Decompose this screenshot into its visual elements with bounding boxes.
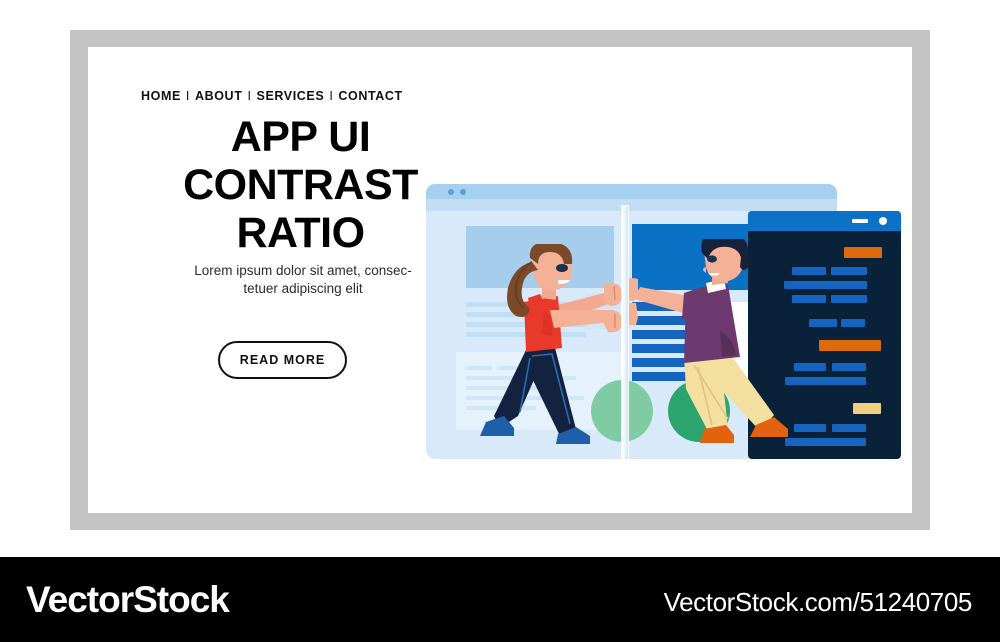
poster-frame: HOMEIABOUTISERVICESICONTACT APP UI CONTR…	[70, 30, 930, 530]
minimize-icon[interactable]	[852, 219, 868, 223]
code-highlight-orange	[819, 340, 881, 351]
woman-pushing-character	[458, 244, 633, 459]
code-line	[831, 267, 867, 275]
read-more-button[interactable]: READ MORE	[218, 341, 347, 379]
code-line	[831, 295, 867, 303]
window-dot-icon	[460, 189, 466, 195]
nav-separator: I	[181, 89, 195, 103]
nav-item-services[interactable]: SERVICES	[257, 89, 325, 103]
read-more-label: READ MORE	[240, 353, 325, 367]
subtext-line-2: tetuer adipiscing elit	[148, 280, 458, 298]
poster-inner: HOMEIABOUTISERVICESICONTACT APP UI CONTR…	[88, 47, 912, 513]
close-icon[interactable]	[879, 217, 887, 225]
contrast-illustration	[426, 184, 901, 469]
code-panel-titlebar	[748, 211, 901, 231]
code-line	[841, 319, 865, 327]
top-navigation: HOMEIABOUTISERVICESICONTACT	[141, 89, 403, 103]
nav-separator: I	[242, 89, 256, 103]
nav-item-contact[interactable]: CONTACT	[338, 89, 402, 103]
vectorstock-url: VectorStock.com/51240705	[664, 587, 972, 618]
code-line	[832, 363, 866, 371]
browser-toolbar	[426, 199, 837, 211]
code-highlight-orange	[844, 247, 882, 258]
browser-titlebar	[426, 184, 837, 199]
code-highlight-yellow	[853, 403, 881, 414]
hero-subtext: Lorem ipsum dolor sit amet, consec- tetu…	[148, 262, 458, 298]
vectorstock-footer: VectorStock VectorStock.com/51240705	[0, 557, 1000, 642]
headline-line-1: APP UI	[88, 113, 513, 161]
nav-item-home[interactable]: HOME	[141, 89, 181, 103]
subtext-line-1: Lorem ipsum dolor sit amet, consec-	[148, 262, 458, 280]
nav-separator: I	[324, 89, 338, 103]
window-dot-icon	[448, 189, 454, 195]
vectorstock-logo: VectorStock	[26, 579, 229, 621]
nav-item-about[interactable]: ABOUT	[195, 89, 242, 103]
code-line	[832, 424, 866, 432]
man-pushing-character	[624, 239, 814, 459]
page-canvas: HOMEIABOUTISERVICESICONTACT APP UI CONTR…	[0, 0, 1000, 642]
contrast-divider	[622, 206, 628, 459]
